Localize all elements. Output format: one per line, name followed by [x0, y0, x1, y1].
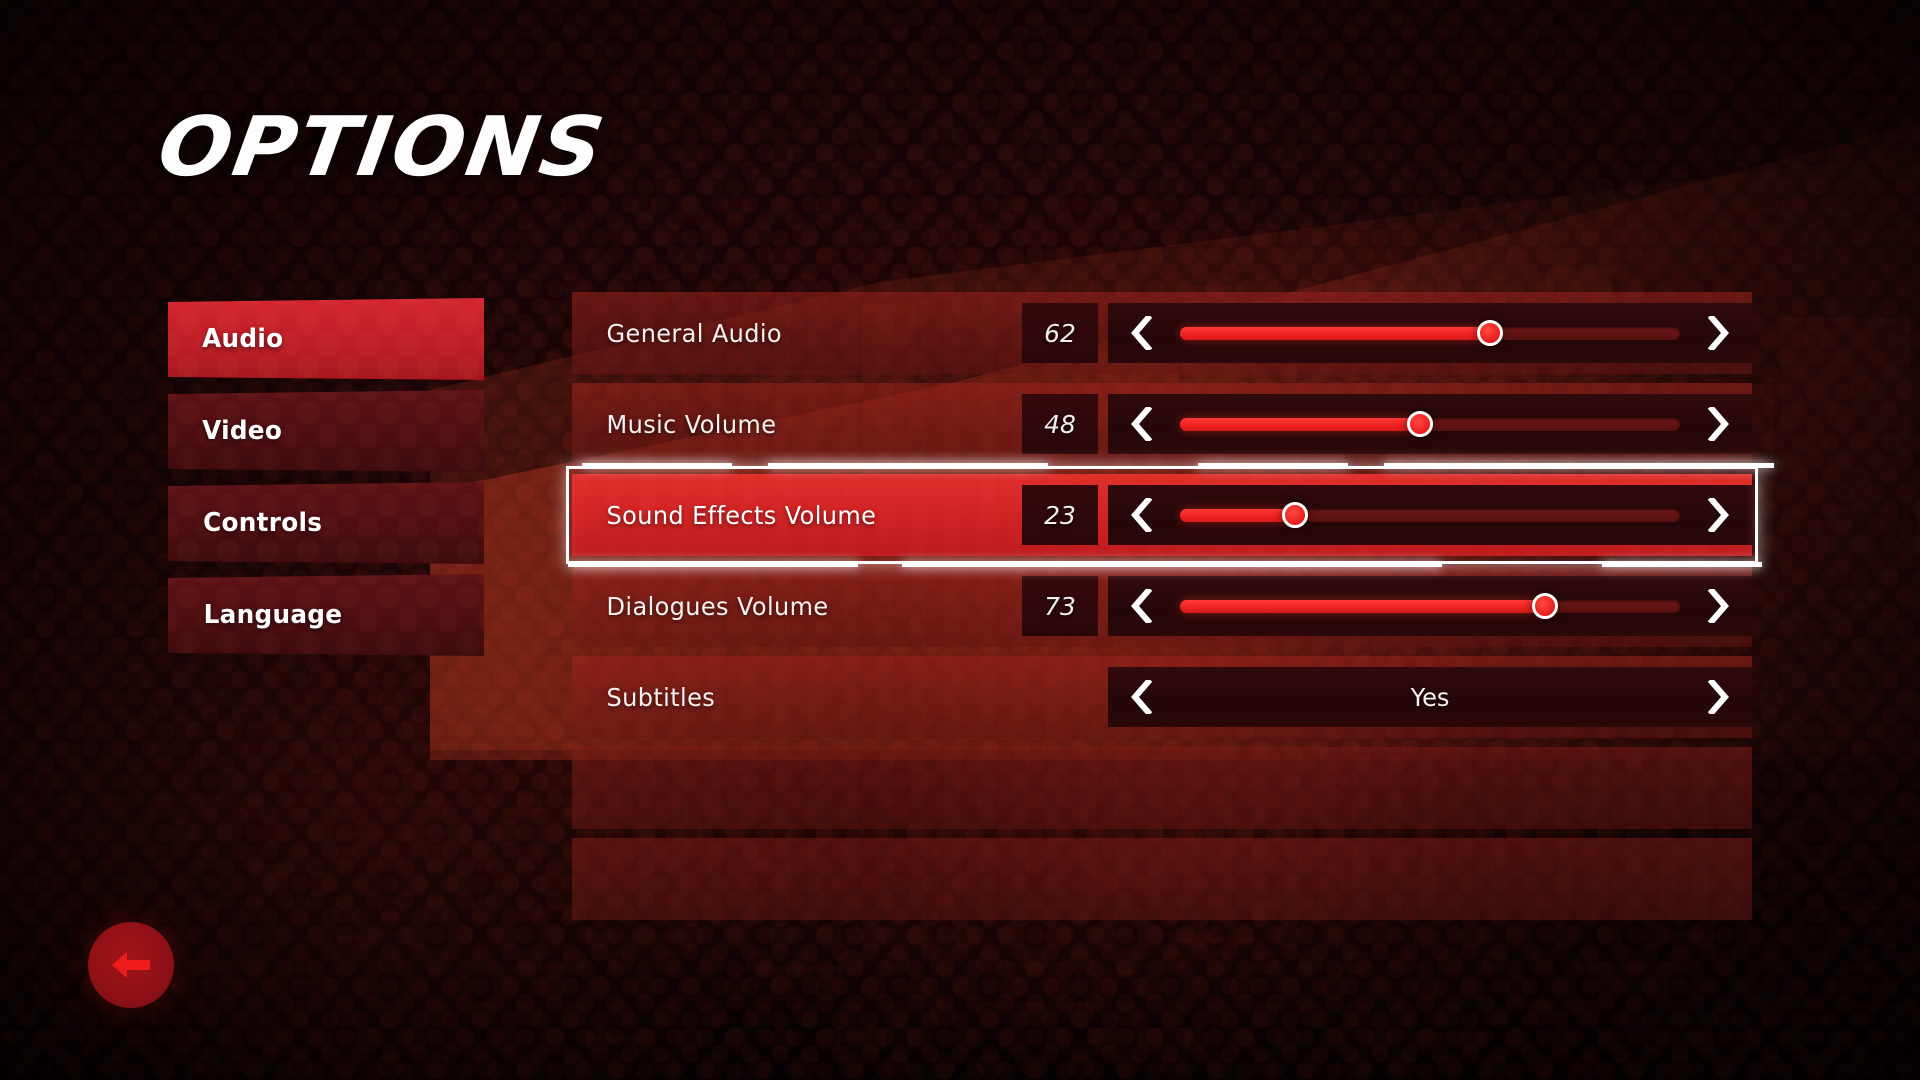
settings-row[interactable]: SubtitlesYes — [572, 656, 1752, 738]
slider-knob[interactable] — [1282, 502, 1308, 528]
slider-control[interactable] — [1108, 394, 1752, 454]
slider-track[interactable] — [1180, 600, 1680, 613]
slider-control[interactable] — [1108, 303, 1752, 363]
sidebar-item-language[interactable]: Language — [168, 574, 484, 656]
decrease-chevron-left-icon[interactable] — [1108, 576, 1174, 636]
settings-row[interactable]: Music Volume48 — [572, 383, 1752, 465]
settings-value-box: 73 — [1022, 576, 1098, 636]
increase-chevron-right-icon[interactable] — [1686, 576, 1752, 636]
sidebar-divider — [168, 564, 484, 574]
slider-track-wrapper[interactable] — [1174, 303, 1686, 363]
slider-knob[interactable] — [1532, 593, 1558, 619]
settings-row-empty — [572, 747, 1752, 829]
settings-row[interactable]: Dialogues Volume73 — [572, 565, 1752, 647]
sidebar-item-label: Controls — [203, 508, 322, 538]
slider-fill — [1180, 418, 1420, 431]
slider-fill — [1180, 327, 1490, 340]
sidebar-item-audio[interactable]: Audio — [168, 298, 484, 380]
increase-chevron-right-icon[interactable] — [1686, 303, 1752, 363]
slider-fill — [1180, 509, 1295, 522]
slider-track[interactable] — [1180, 327, 1680, 340]
page-title: OPTIONS — [152, 100, 612, 195]
decrease-chevron-left-icon[interactable] — [1108, 303, 1174, 363]
slider-track-wrapper[interactable] — [1174, 394, 1686, 454]
settings-row-label: Music Volume — [572, 410, 994, 439]
settings-value-box: 23 — [1022, 485, 1098, 545]
settings-row-label: Dialogues Volume — [572, 592, 994, 621]
increase-chevron-right-icon[interactable] — [1686, 485, 1752, 545]
slider-fill — [1180, 600, 1545, 613]
settings-value-box: 48 — [1022, 394, 1098, 454]
slider-track[interactable] — [1180, 509, 1680, 522]
settings-row-label: Subtitles — [572, 683, 994, 712]
slider-track-wrapper[interactable] — [1174, 576, 1686, 636]
decrease-chevron-left-icon[interactable] — [1108, 394, 1174, 454]
decrease-chevron-left-icon[interactable] — [1108, 485, 1174, 545]
option-value: Yes — [1184, 683, 1676, 712]
increase-chevron-right-icon[interactable] — [1686, 394, 1752, 454]
settings-panel: General Audio62Music Volume48Sound Effec… — [572, 292, 1752, 929]
settings-row-texture — [572, 838, 1752, 920]
sidebar-divider — [168, 380, 484, 390]
settings-row[interactable]: General Audio62 — [572, 292, 1752, 374]
slider-track[interactable] — [1180, 418, 1680, 431]
options-screen: OPTIONS AudioVideoControlsLanguage Gener… — [0, 0, 1920, 1080]
sidebar-item-video[interactable]: Video — [168, 390, 484, 472]
slider-track-wrapper[interactable] — [1174, 485, 1686, 545]
option-selector[interactable]: Yes — [1108, 667, 1752, 727]
sidebar-item-label: Audio — [202, 324, 283, 354]
arrow-left-icon — [108, 945, 154, 985]
sidebar-item-controls[interactable]: Controls — [168, 482, 484, 564]
slider-control[interactable] — [1108, 485, 1752, 545]
sidebar-item-label: Language — [204, 600, 343, 630]
settings-row[interactable]: Sound Effects Volume23 — [572, 474, 1752, 556]
sidebar-divider — [168, 472, 484, 482]
settings-row-texture — [572, 747, 1752, 829]
settings-value-box: 62 — [1022, 303, 1098, 363]
slider-knob[interactable] — [1407, 411, 1433, 437]
settings-row-empty — [572, 838, 1752, 920]
settings-row-label: Sound Effects Volume — [572, 501, 994, 530]
previous-chevron-left-icon[interactable] — [1108, 667, 1174, 727]
settings-row-label: General Audio — [572, 319, 994, 348]
sidebar-item-label: Video — [202, 416, 282, 446]
next-chevron-right-icon[interactable] — [1686, 667, 1752, 727]
back-button[interactable] — [88, 922, 174, 1008]
slider-control[interactable] — [1108, 576, 1752, 636]
slider-knob[interactable] — [1477, 320, 1503, 346]
options-category-sidebar: AudioVideoControlsLanguage — [168, 298, 484, 656]
